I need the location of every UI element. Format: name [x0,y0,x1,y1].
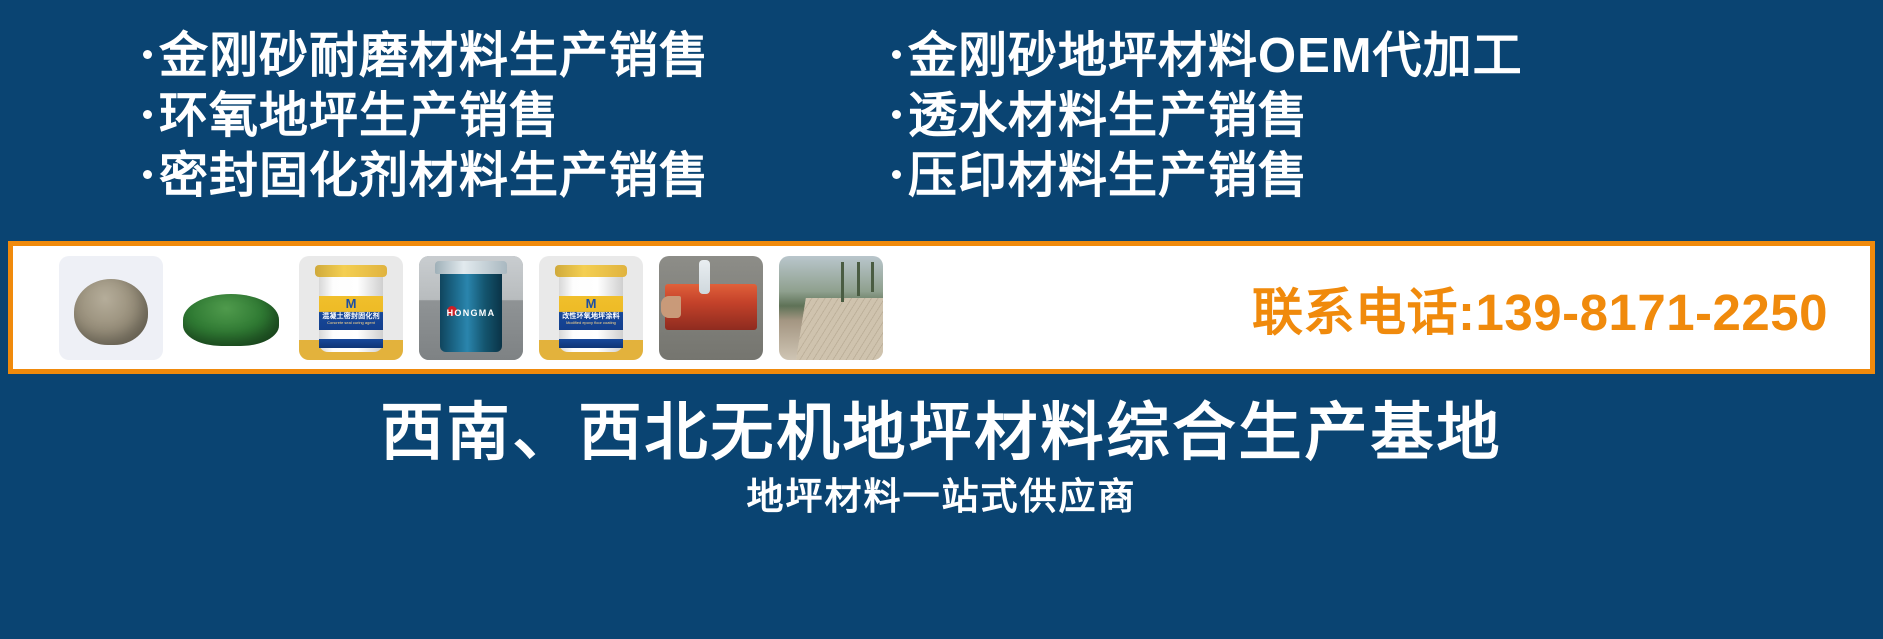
feature-label: 环氧地坪生产销售 [159,88,559,144]
feature-item: 密封固化剂材料生产销售 [143,148,880,204]
feature-label: 金刚砂地坪材料OEM代加工 [908,28,1523,84]
feature-column-left: 金刚砂耐磨材料生产销售 环氧地坪生产销售 密封固化剂材料生产销售 [0,28,880,228]
feature-label: 压印材料生产销售 [908,148,1308,204]
brand-mark-icon: M [346,297,357,310]
feature-lists: 金刚砂耐磨材料生产销售 环氧地坪生产销售 密封固化剂材料生产销售 金刚砂地坪材料… [0,28,1883,228]
powder-pile-shape [74,279,148,345]
hand-shape [661,296,681,318]
pail-foot [319,339,383,348]
footer-headline: 西南、西北无机地坪材料综合生产基地 [0,382,1883,473]
bullet-icon [143,50,152,59]
tree-shape [841,262,844,302]
product-thumb-grey-abrasive-powder [59,256,163,360]
product-thumb-permeable-concrete-sample [659,256,763,360]
powder-pile-shape [183,294,279,346]
pail-label-en: Concrete seal curing agent [319,320,383,325]
promo-banner: 金刚砂耐磨材料生产销售 环氧地坪生产销售 密封固化剂材料生产销售 金刚砂地坪材料… [0,0,1883,639]
feature-column-right: 金刚砂地坪材料OEM代加工 透水材料生产销售 压印材料生产销售 [880,28,1883,228]
stamped-path-shape [796,298,883,360]
drum-lid [435,261,507,274]
drum-shape: HONGMA [440,268,502,352]
product-thumbnail-list: M 混凝土密封固化剂 Concrete seal curing agent HO… [13,256,883,360]
tree-shape [871,262,874,292]
feature-item: 环氧地坪生产销售 [143,88,880,144]
feature-label: 金刚砂耐磨材料生产销售 [159,28,709,84]
tree-shape [857,262,860,296]
feature-label: 密封固化剂材料生产销售 [159,148,709,204]
pail-foot [559,339,623,348]
pail-rim [315,265,387,277]
bullet-icon [892,110,901,119]
product-thumb-sealer-pail: M 混凝土密封固化剂 Concrete seal curing agent [299,256,403,360]
bullet-icon [143,170,152,179]
bullet-icon [892,50,901,59]
brand-mark-icon: M [586,297,597,310]
feature-item: 金刚砂耐磨材料生产销售 [143,28,880,84]
bullet-icon [892,170,901,179]
contact-phone[interactable]: 联系电话:139-8171-2250 [1252,271,1870,345]
product-thumb-epoxy-pail: M 改性环氧地坪涂料 Modified epoxy floor coating [539,256,643,360]
feature-item: 压印材料生产销售 [892,148,1883,204]
product-strip: M 混凝土密封固化剂 Concrete seal curing agent HO… [8,241,1875,374]
drum-brand-text: HONGMA [440,308,502,318]
bullet-icon [143,110,152,119]
product-thumb-green-abrasive-powder [179,256,283,360]
feature-item: 透水材料生产销售 [892,88,1883,144]
water-stream-shape [699,260,710,294]
pail-shape: M 改性环氧地坪涂料 Modified epoxy floor coating [559,270,623,352]
feature-label: 透水材料生产销售 [908,88,1308,144]
product-thumb-stamped-concrete-path [779,256,883,360]
pail-label-en: Modified epoxy floor coating [559,320,623,325]
feature-item: 金刚砂地坪材料OEM代加工 [892,28,1883,84]
product-thumb-hongma-drum: HONGMA [419,256,523,360]
footer-subline: 地坪材料一站式供应商 [0,466,1883,520]
pail-shape: M 混凝土密封固化剂 Concrete seal curing agent [319,270,383,352]
pail-rim [555,265,627,277]
